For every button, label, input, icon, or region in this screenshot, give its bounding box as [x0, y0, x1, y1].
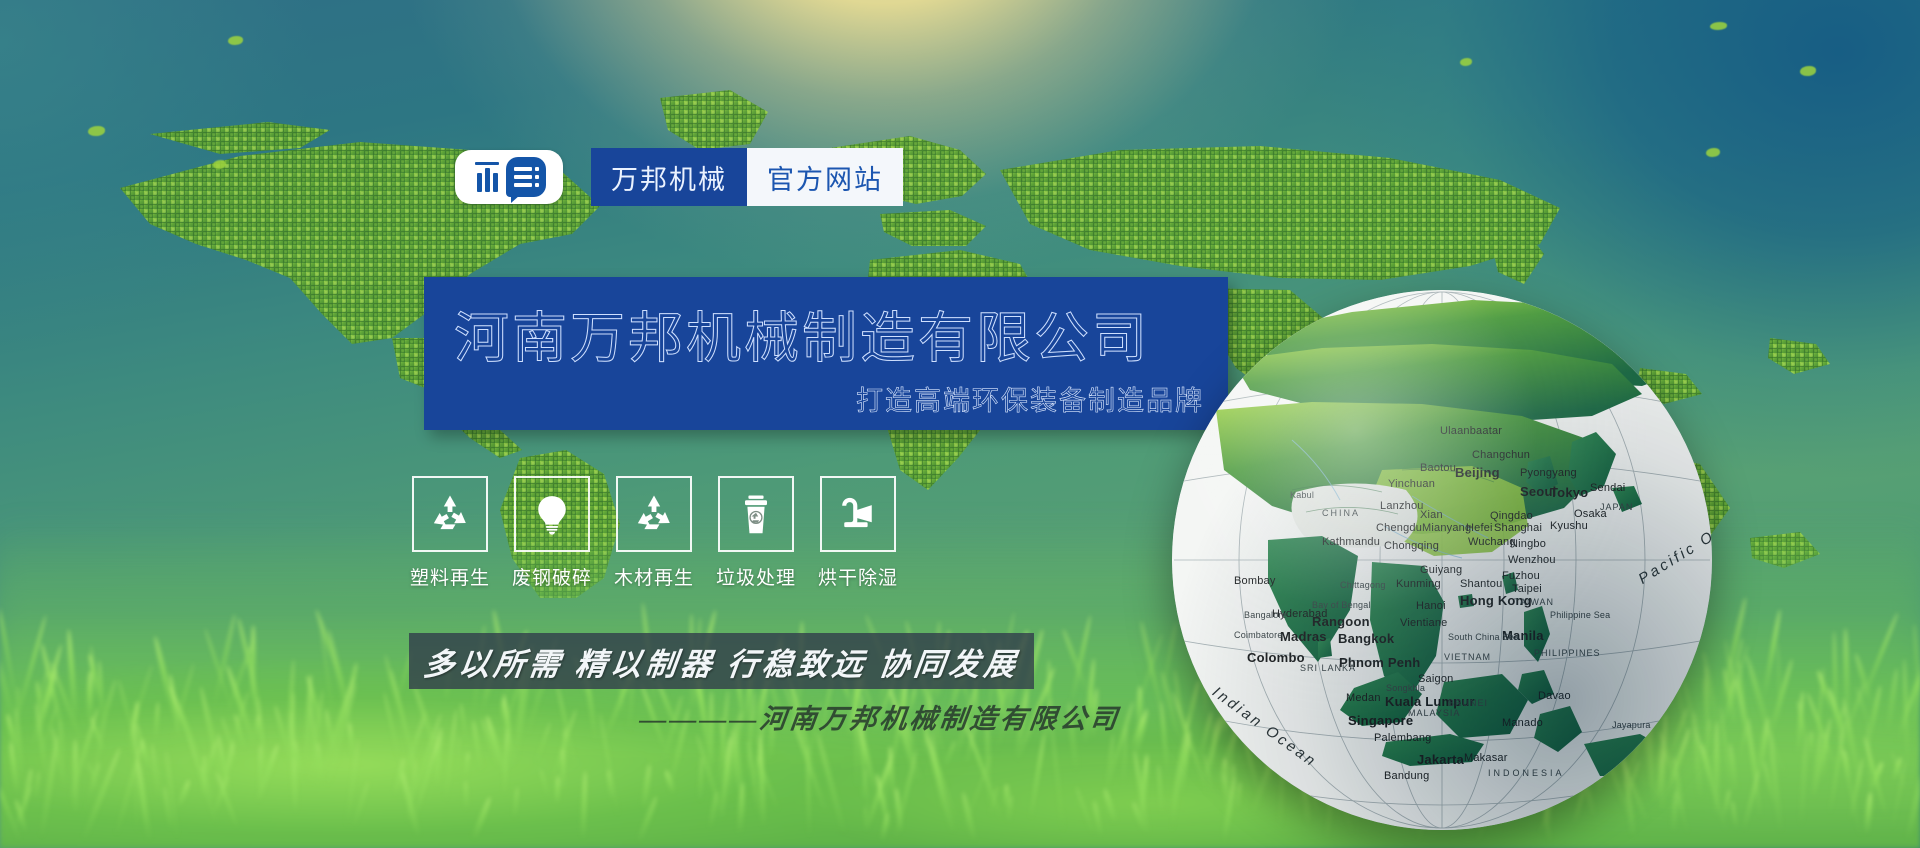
globe-label-taipei: Taipei — [1512, 583, 1542, 595]
globe-label-bombay: Bombay — [1234, 575, 1276, 587]
globe-label-kabul: Kabul — [1290, 490, 1314, 500]
globe-graphic: Hong Kong Beijing Tokyo Seoul Manila Ban… — [1172, 290, 1732, 848]
feature-list: 塑料再生 废钢破碎 木材再生 — [414, 476, 894, 590]
globe-label-singapore: Singapore — [1348, 713, 1413, 728]
globe-label-taiwan: TAIWAN — [1514, 597, 1554, 607]
globe-label-bangkok: Bangkok — [1338, 631, 1394, 646]
slogan-text: 多以所需 精以制器 行稳致远 协同发展 — [421, 639, 1022, 684]
globe-label-shanghai: Shanghai — [1494, 522, 1542, 534]
feature-label: 木材再生 — [614, 563, 694, 590]
feature-item-wood-recycling[interactable]: 木材再生 — [618, 476, 690, 590]
globe-label-qingdao: Qingdao — [1490, 510, 1533, 522]
recycle-icon — [412, 476, 488, 552]
globe-label-chengdu: Chengdu — [1376, 522, 1422, 534]
hero-banner: 万邦机械 官方网站 河南万邦机械制造有限公司 打造高端环保装备制造品牌 塑料再生 — [0, 0, 1920, 848]
dryer-icon — [820, 476, 896, 552]
globe-label-jakarta: Jakarta — [1417, 752, 1464, 767]
globe-label-pyongyang: Pyongyang — [1520, 467, 1577, 479]
globe-label-medan: Medan — [1346, 692, 1381, 704]
globe-label-jayapura: Jayapura — [1612, 720, 1651, 730]
globe-label-chittagong: Chittagong — [1340, 580, 1386, 590]
feature-item-plastic-recycling[interactable]: 塑料再生 — [414, 476, 486, 590]
nav-tabs: 万邦机械 官方网站 — [591, 148, 903, 206]
trash-bin-icon — [718, 476, 794, 552]
feature-label: 垃圾处理 — [716, 563, 796, 590]
globe-label-coimbatore: Coimbatore — [1234, 630, 1283, 640]
globe-label-wenzhou: Wenzhou — [1508, 554, 1556, 566]
recycle-icon — [616, 476, 692, 552]
feature-item-drying-dehumidifying[interactable]: 烘干除湿 — [822, 476, 894, 590]
feature-item-scrap-steel-crushing[interactable]: 废钢破碎 — [516, 476, 588, 590]
globe-label-vietnam: VIETNAM — [1444, 652, 1491, 662]
globe-label-malaysia: MALAYSIA — [1408, 708, 1460, 718]
slogan-attribution: ————河南万邦机械制造有限公司 — [638, 697, 1243, 736]
globe-label-yinchuan: Yinchuan — [1388, 478, 1435, 490]
globe-label-beijing: Beijing — [1455, 465, 1500, 480]
lightbulb-icon — [514, 476, 590, 552]
globe-label-baotou: Baotou — [1420, 462, 1456, 474]
globe-label-seoul: Seoul — [1520, 484, 1556, 499]
globe-label-madras: Madras — [1280, 629, 1327, 644]
globe-label-xian: Xian — [1420, 509, 1443, 521]
globe-label-brunei: BRUNEI — [1448, 698, 1488, 708]
globe-label-mianyang: Mianyang — [1422, 522, 1471, 534]
globe-label-fuzhou: Fuzhou — [1502, 570, 1540, 582]
globe-label-changchun: Changchun — [1472, 449, 1530, 461]
feature-item-waste-treatment[interactable]: 垃圾处理 — [720, 476, 792, 590]
globe-label-kunming: Kunming — [1396, 578, 1441, 590]
company-title: 河南万邦机械制造有限公司 — [454, 293, 1150, 373]
globe-label-manado: Manado — [1502, 717, 1543, 729]
globe-label-philippines: PHILIPPINES — [1534, 648, 1601, 658]
globe-label-guiyang: Guiyang — [1420, 564, 1462, 576]
globe-label-colombo: Colombo — [1247, 650, 1305, 665]
globe-label-bangalore: Bangalore — [1244, 610, 1287, 620]
globe-label-ulaanbaatar: Ulaanbaatar — [1440, 425, 1502, 437]
globe-label-china: CHINA — [1322, 508, 1360, 518]
globe-label-sendai: Sendai — [1590, 482, 1625, 494]
tab-wanbang-machinery[interactable]: 万邦机械 — [591, 148, 747, 206]
globe-label-japan: JAPAN — [1600, 502, 1633, 512]
globe-label-south-china-sea: South China Sea — [1448, 632, 1519, 642]
feature-label: 废钢破碎 — [512, 563, 592, 590]
logo-b-icon — [506, 157, 546, 197]
tab-official-website[interactable]: 官方网站 — [747, 148, 903, 206]
globe-label-port-moresby: Port Moresby — [1616, 767, 1684, 779]
globe-label-kyushu: Kyushu — [1550, 520, 1588, 532]
globe-label-davao: Davao — [1538, 690, 1571, 702]
globe-label-hanoi: Hanoi — [1416, 600, 1446, 612]
globe-label-vientiane: Vientiane — [1400, 617, 1447, 629]
brand-header: 万邦机械 官方网站 — [455, 148, 903, 206]
globe-label-bay-of-bengal: Bay of Bengal — [1312, 600, 1371, 610]
globe-label-bandung: Bandung — [1384, 770, 1429, 782]
globe-label-songkhla: Songkhla — [1386, 683, 1425, 693]
logo-w-icon — [472, 162, 502, 192]
globe-label-shantou: Shantou — [1460, 578, 1502, 590]
wanbang-logo[interactable] — [455, 150, 563, 204]
globe-label-indonesia: INDONESIA — [1488, 768, 1565, 778]
slogan-bar: 多以所需 精以制器 行稳致远 协同发展 — [409, 633, 1034, 689]
globe-sphere: Hong Kong Beijing Tokyo Seoul Manila Ban… — [1172, 290, 1712, 830]
feature-label: 塑料再生 — [410, 563, 490, 590]
globe-label-hefei: Hefei — [1466, 522, 1493, 534]
globe-label-wuchang: Wuchang — [1468, 536, 1516, 548]
globe-label-philippine-sea: Philippine Sea — [1550, 610, 1610, 620]
feature-label: 烘干除湿 — [818, 563, 898, 590]
company-banner: 河南万邦机械制造有限公司 打造高端环保装备制造品牌 — [424, 277, 1228, 430]
globe-label-palembang: Palembang — [1374, 732, 1431, 744]
globe-label-kathmandu: Kathmandu — [1322, 536, 1380, 548]
globe-label-makasar: Makasar — [1464, 752, 1508, 764]
globe-label-lanzhou: Lanzhou — [1380, 500, 1424, 512]
globe-label-sri-lanka: SRI LANKA — [1300, 663, 1356, 673]
globe-label-chongqing: Chongqing — [1384, 540, 1439, 552]
company-subtitle: 打造高端环保装备制造品牌 — [856, 379, 1204, 418]
